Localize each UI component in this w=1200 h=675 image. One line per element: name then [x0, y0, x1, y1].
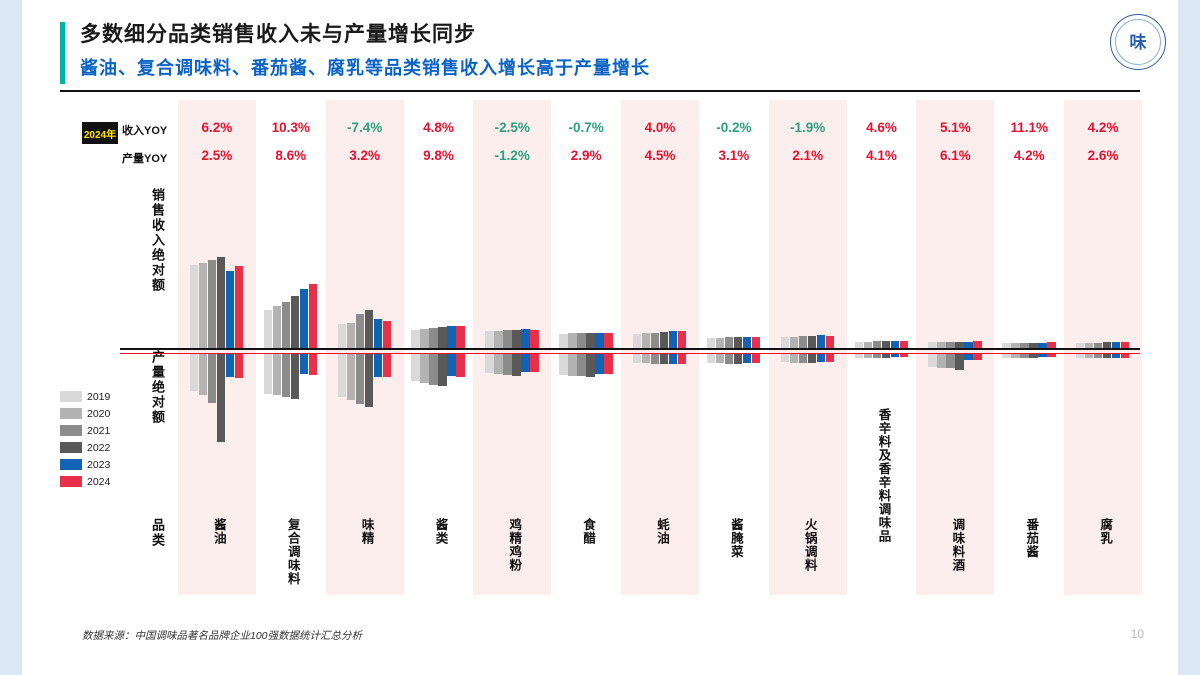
output-bar	[808, 354, 816, 363]
revenue-bar	[633, 334, 641, 348]
header-divider	[60, 90, 1140, 92]
revenue-bar	[855, 342, 863, 348]
revenue-bar	[964, 342, 972, 348]
revenue-bar	[595, 333, 603, 348]
revenue-bar	[503, 330, 511, 348]
revenue-bar	[725, 337, 733, 348]
output-bar	[530, 354, 538, 372]
page-edge-left	[0, 0, 22, 675]
output-bar	[494, 354, 502, 374]
revenue-yoy-value: 5.1%	[918, 120, 992, 135]
category-label: 酱类	[430, 518, 446, 545]
output-bar	[577, 354, 585, 376]
output-bar	[429, 354, 437, 385]
revenue-bar	[642, 333, 650, 348]
output-bar	[347, 354, 355, 400]
category-label: 腐乳	[1095, 518, 1111, 545]
revenue-bar	[273, 306, 281, 348]
revenue-yoy-value: -2.5%	[475, 120, 549, 135]
output-yoy-value: -1.2%	[475, 148, 549, 163]
grouped-bar-chart: 2024年 收入YOY 产量YOY 2019202020212022202320…	[60, 100, 1140, 595]
output-bar	[817, 354, 825, 362]
revenue-bar	[521, 329, 529, 348]
page-edge-right	[1178, 0, 1200, 675]
x-axis-title-category: 品类	[148, 518, 167, 548]
output-bar	[900, 354, 908, 357]
revenue-bar	[781, 337, 789, 348]
revenue-bar	[734, 337, 742, 348]
output-bar	[928, 354, 936, 367]
output-bar	[226, 354, 234, 377]
revenue-bar	[456, 326, 464, 348]
revenue-bar	[374, 319, 382, 348]
legend-item: 2021	[60, 422, 118, 439]
output-bar	[411, 354, 419, 381]
revenue-bar	[217, 257, 225, 348]
revenue-yoy-value: -0.7%	[549, 120, 623, 135]
revenue-yoy-value: -0.2%	[697, 120, 771, 135]
category-label: 味精	[357, 518, 373, 545]
revenue-bar	[300, 289, 308, 348]
output-bar	[273, 354, 281, 395]
revenue-bar	[808, 336, 816, 348]
revenue-bar	[512, 330, 520, 348]
output-yoy-value: 2.5%	[180, 148, 254, 163]
revenue-yoy-value: 4.6%	[845, 120, 919, 135]
category-label: 番茄酱	[1021, 518, 1037, 559]
revenue-bar	[494, 331, 502, 348]
legend-label: 2023	[87, 459, 110, 471]
category-label: 调味料酒	[947, 518, 963, 572]
output-bar	[595, 354, 603, 374]
output-bar	[309, 354, 317, 375]
revenue-bar	[891, 341, 899, 348]
revenue-bar	[1038, 343, 1046, 348]
logo-ring	[1115, 19, 1161, 65]
revenue-bar	[743, 337, 751, 348]
output-bar	[1002, 354, 1010, 358]
legend-label: 2021	[87, 425, 110, 437]
output-bar	[438, 354, 446, 386]
revenue-bar	[946, 342, 954, 348]
output-bar	[752, 354, 760, 363]
category-label: 火锅调料	[800, 518, 816, 572]
revenue-yoy-value: 4.0%	[623, 120, 697, 135]
revenue-bar	[864, 342, 872, 348]
revenue-bar	[264, 310, 272, 348]
revenue-bar	[1076, 343, 1084, 348]
revenue-bar	[1011, 343, 1019, 348]
output-bar	[264, 354, 272, 394]
revenue-bar	[1029, 343, 1037, 348]
revenue-bar	[429, 328, 437, 348]
output-bar	[964, 354, 972, 360]
category-label: 食醋	[578, 518, 594, 545]
category-label: 酱油	[209, 518, 225, 545]
output-yoy-value: 2.1%	[771, 148, 845, 163]
legend-swatch	[60, 442, 82, 453]
output-bar	[568, 354, 576, 376]
revenue-bar	[420, 329, 428, 348]
output-bar	[365, 354, 373, 407]
output-bar	[420, 354, 428, 383]
legend-swatch	[60, 391, 82, 402]
legend-swatch	[60, 408, 82, 419]
output-bar	[678, 354, 686, 364]
output-bar	[356, 354, 364, 404]
revenue-bar	[577, 333, 585, 348]
output-bar	[642, 354, 650, 363]
revenue-bar	[438, 327, 446, 348]
output-bar	[955, 354, 963, 370]
legend-label: 2022	[87, 442, 110, 454]
legend-label: 2019	[87, 391, 110, 403]
output-yoy-value: 3.1%	[697, 148, 771, 163]
revenue-bar	[199, 263, 207, 348]
output-bar	[586, 354, 594, 377]
revenue-bar	[356, 314, 364, 348]
chart-legend: 201920202021202220232024	[60, 388, 118, 490]
legend-item: 2024	[60, 473, 118, 490]
revenue-bar	[208, 260, 216, 348]
legend-item: 2019	[60, 388, 118, 405]
output-bar	[199, 354, 207, 395]
revenue-bar	[530, 330, 538, 348]
output-bar	[447, 354, 455, 376]
output-bar	[873, 354, 881, 358]
legend-label: 2024	[87, 476, 110, 488]
revenue-bar	[669, 331, 677, 348]
output-bar	[291, 354, 299, 399]
output-bar	[300, 354, 308, 374]
category-label: 酱腌菜	[726, 518, 742, 559]
revenue-bar	[411, 330, 419, 348]
output-bar	[1076, 354, 1084, 358]
revenue-bar	[309, 284, 317, 348]
revenue-bar	[1112, 342, 1120, 348]
category-label: 鸡精鸡粉	[504, 518, 520, 572]
output-bar	[707, 354, 715, 363]
output-bar	[217, 354, 225, 442]
revenue-bar	[882, 341, 890, 348]
output-bar	[891, 354, 899, 357]
output-bar	[1112, 354, 1120, 358]
revenue-bar	[383, 321, 391, 348]
revenue-bar	[447, 326, 455, 348]
output-bar	[973, 354, 981, 360]
output-bar	[190, 354, 198, 391]
output-bar	[882, 354, 890, 358]
legend-swatch	[60, 476, 82, 487]
output-yoy-value: 3.2%	[328, 148, 402, 163]
output-bar	[725, 354, 733, 364]
revenue-yoy-value: 10.3%	[254, 120, 328, 135]
output-yoy-value: 4.5%	[623, 148, 697, 163]
output-bar	[937, 354, 945, 368]
revenue-bar	[190, 265, 198, 348]
revenue-yoy-value: 6.2%	[180, 120, 254, 135]
year-tag: 2024年	[82, 122, 118, 144]
page-title: 多数细分品类销售收入未与产量增长同步	[80, 18, 476, 48]
revenue-bar	[1085, 343, 1093, 348]
revenue-yoy-row-label: 收入YOY	[122, 122, 167, 138]
y-axis-title-output: 产量绝对额	[148, 350, 167, 425]
output-bar	[946, 354, 954, 368]
output-yoy-value: 4.2%	[992, 148, 1066, 163]
revenue-bar	[900, 341, 908, 348]
output-bar	[1121, 354, 1129, 358]
revenue-bar	[707, 338, 715, 348]
output-bar	[208, 354, 216, 403]
revenue-yoy-value: 4.8%	[402, 120, 476, 135]
output-yoy-value: 2.9%	[549, 148, 623, 163]
output-bar	[383, 354, 391, 377]
output-bar	[864, 354, 872, 358]
output-bar	[1020, 354, 1028, 358]
revenue-bar	[873, 341, 881, 348]
revenue-yoy-value: 11.1%	[992, 120, 1066, 135]
source-note: 数据来源：中国调味品著名品牌企业100强数据统计汇总分析	[82, 628, 362, 643]
revenue-bar	[928, 342, 936, 348]
output-bar	[485, 354, 493, 373]
output-yoy-row-label: 产量YOY	[122, 150, 167, 166]
output-bar	[826, 354, 834, 362]
legend-item: 2020	[60, 405, 118, 422]
revenue-bar	[955, 342, 963, 348]
legend-label: 2020	[87, 408, 110, 420]
category-label: 复合调味料	[283, 518, 299, 586]
title-accent-bar	[60, 22, 65, 84]
revenue-bar	[1002, 343, 1010, 348]
page-subtitle: 酱油、复合调味料、番茄酱、腐乳等品类销售收入增长高于产量增长	[80, 54, 650, 80]
revenue-bar	[586, 333, 594, 348]
revenue-yoy-value: -1.9%	[771, 120, 845, 135]
output-bar	[1038, 354, 1046, 357]
output-bar	[374, 354, 382, 377]
output-bar	[559, 354, 567, 375]
legend-item: 2022	[60, 439, 118, 456]
output-bar	[503, 354, 511, 375]
revenue-bar	[799, 336, 807, 348]
revenue-bar	[790, 337, 798, 348]
output-bar	[734, 354, 742, 364]
output-bar	[855, 354, 863, 358]
output-bar	[282, 354, 290, 397]
output-bar	[781, 354, 789, 362]
output-bar	[1085, 354, 1093, 358]
output-yoy-value: 4.1%	[845, 148, 919, 163]
category-label: 香辛料及香辛料调味品	[874, 408, 890, 543]
revenue-bar	[235, 266, 243, 348]
category-label: 蚝油	[652, 518, 668, 545]
output-bar	[1103, 354, 1111, 358]
revenue-yoy-value: -7.4%	[328, 120, 402, 135]
legend-swatch	[60, 459, 82, 470]
output-bar	[1047, 354, 1055, 357]
output-bar	[1029, 354, 1037, 358]
revenue-bar	[1094, 343, 1102, 348]
output-bar	[604, 354, 612, 374]
zero-axis-line	[120, 348, 1140, 350]
revenue-bar	[338, 324, 346, 348]
revenue-bar	[559, 334, 567, 348]
output-bar	[338, 354, 346, 397]
revenue-bar	[1121, 342, 1129, 348]
output-bar	[651, 354, 659, 364]
revenue-bar	[651, 333, 659, 348]
output-bar	[1011, 354, 1019, 358]
slide-header: 多数细分品类销售收入未与产量增长同步 酱油、复合调味料、番茄酱、腐乳等品类销售收…	[60, 18, 1140, 88]
revenue-bar	[817, 335, 825, 348]
output-bar	[790, 354, 798, 363]
output-bar	[633, 354, 641, 363]
revenue-bar	[365, 310, 373, 348]
page-number: 10	[1131, 627, 1144, 641]
revenue-bar	[347, 323, 355, 348]
revenue-bar	[1020, 343, 1028, 348]
output-bar	[743, 354, 751, 363]
legend-item: 2023	[60, 456, 118, 473]
output-bar	[660, 354, 668, 364]
output-yoy-value: 6.1%	[918, 148, 992, 163]
output-bar	[1094, 354, 1102, 358]
output-bar	[716, 354, 724, 363]
output-bar	[669, 354, 677, 364]
revenue-bar	[826, 336, 834, 348]
revenue-bar	[660, 332, 668, 348]
output-yoy-value: 8.6%	[254, 148, 328, 163]
output-bar	[235, 354, 243, 378]
revenue-bar	[937, 342, 945, 348]
revenue-bar	[291, 296, 299, 348]
revenue-bar	[485, 331, 493, 348]
y-axis-title-revenue: 销售收入绝对额	[148, 188, 167, 293]
revenue-bar	[716, 338, 724, 348]
revenue-yoy-value: 4.2%	[1066, 120, 1140, 135]
output-yoy-value: 9.8%	[402, 148, 476, 163]
revenue-bar	[604, 333, 612, 348]
output-bar	[512, 354, 520, 376]
output-yoy-value: 2.6%	[1066, 148, 1140, 163]
revenue-bar	[1047, 342, 1055, 348]
output-bar	[799, 354, 807, 363]
organization-logo: 味	[1110, 14, 1166, 70]
output-bar	[456, 354, 464, 377]
revenue-bar	[973, 341, 981, 348]
revenue-bar	[226, 271, 234, 348]
revenue-bar	[678, 331, 686, 348]
revenue-bar	[282, 302, 290, 348]
revenue-bar	[752, 337, 760, 348]
legend-swatch	[60, 425, 82, 436]
revenue-bar	[568, 333, 576, 348]
output-bar	[521, 354, 529, 372]
revenue-bar	[1103, 342, 1111, 348]
